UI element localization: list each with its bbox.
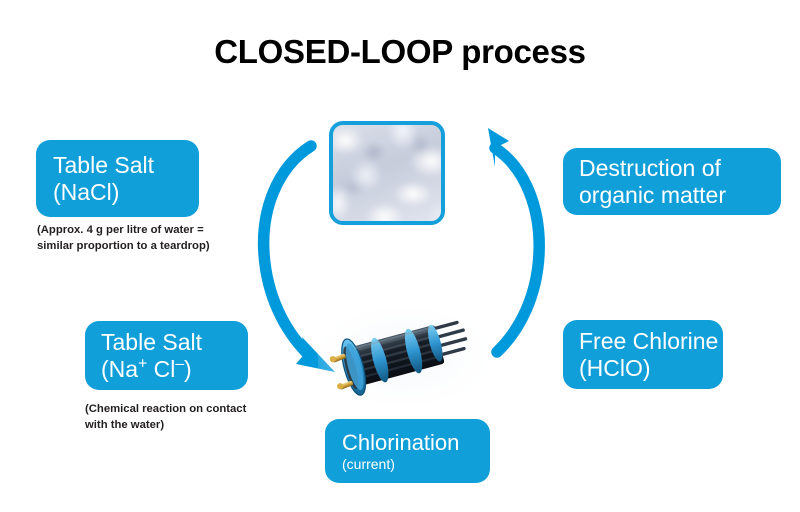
salt-texture: [329, 121, 445, 225]
label-destruction-of-organic-matter[interactable]: Destruction of organic matter: [563, 148, 781, 215]
label-line-1: Table Salt: [101, 329, 248, 356]
label-free-chlorine[interactable]: Free Chlorine (HClO): [563, 320, 723, 389]
closed-loop-diagram: CLOSED-LOOP process: [0, 0, 800, 512]
electrolytic-chlorinator-cell-photo: [318, 306, 488, 406]
label-line-2: organic matter: [579, 182, 781, 209]
label-line-1: Chlorination: [342, 430, 490, 456]
label-table-salt-ions[interactable]: Table Salt (Na+ Cl–): [85, 321, 248, 390]
label-line-1: Free Chlorine: [579, 328, 723, 355]
label-line-1: Destruction of: [579, 155, 781, 182]
right-curved-arrow-up-icon: [488, 128, 539, 352]
label-line-2: (NaCl): [53, 179, 199, 206]
label-line-1: Table Salt: [53, 152, 199, 179]
page-title: CLOSED-LOOP process: [0, 33, 800, 71]
caption-ions: (Chemical reaction on contact with the w…: [85, 401, 270, 433]
label-line-2: (HClO): [579, 355, 723, 382]
label-line-2: (current): [342, 456, 490, 472]
label-line-2: (Na+ Cl–): [101, 356, 248, 383]
salt-crystals-photo: [329, 121, 445, 225]
formula-close: ): [184, 356, 192, 382]
label-chlorination[interactable]: Chlorination (current): [325, 419, 490, 483]
formula-open: (Na: [101, 356, 138, 382]
formula-sup-plus: +: [138, 355, 147, 372]
formula-mid: Cl: [147, 356, 175, 382]
caption-nacl: (Approx. 4 g per litre of water = simila…: [37, 222, 222, 254]
formula-sup-minus: –: [175, 355, 184, 372]
label-table-salt-nacl[interactable]: Table Salt (NaCl): [36, 140, 199, 217]
